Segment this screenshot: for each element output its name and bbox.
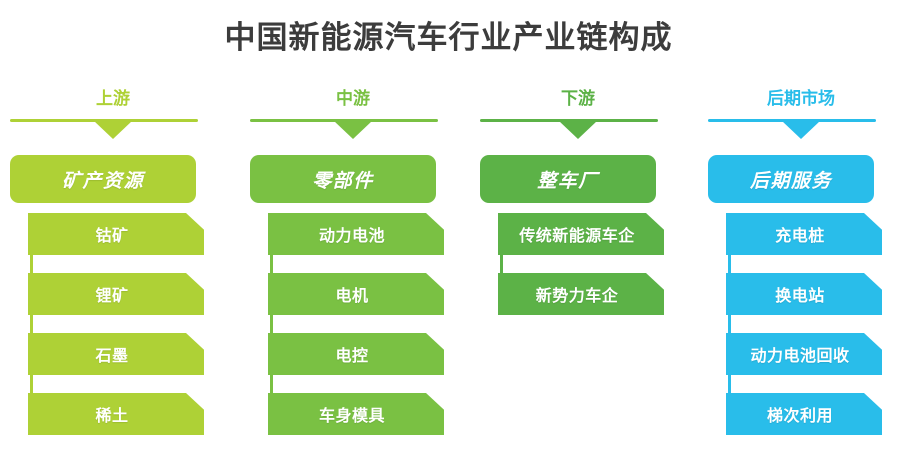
sub-item-list-downstream: 传统新能源车企 新势力车企 [478,213,678,315]
primary-node-midstream[interactable]: 零部件 [250,155,436,203]
list-item-label: 车身模具 [319,402,393,426]
primary-node-downstream[interactable]: 整车厂 [480,155,656,203]
list-item-label: 传统新能源车企 [519,222,643,246]
node-stack-downstream: 整车厂 传统新能源车企 新势力车企 [478,143,678,315]
list-item[interactable]: 充电桩 [726,213,882,255]
sub-item-list-midstream: 动力电池 电机 电控 车身模具 [248,213,458,435]
stage-header-midstream: 中游 [248,88,458,143]
stage-column-midstream: 中游 零部件 动力电池 电机 电控 [248,88,458,475]
list-item-label: 石墨 [95,342,136,366]
primary-node-aftermarket[interactable]: 后期服务 [708,155,874,203]
primary-node-label: 零部件 [312,166,374,193]
stage-header-aftermarket: 后期市场 [706,88,896,143]
primary-node-label: 后期服务 [750,166,832,193]
list-item[interactable]: 换电站 [726,273,882,315]
list-item-label: 电机 [335,282,376,306]
stage-label-midstream: 中游 [248,88,458,110]
list-item-label: 电控 [335,342,376,366]
list-item[interactable]: 钴矿 [28,213,204,255]
list-item-label: 动力电池回收 [750,342,857,366]
stage-label-aftermarket: 后期市场 [706,88,896,110]
primary-node-upstream[interactable]: 矿产资源 [10,155,196,203]
node-stack-aftermarket: 后期服务 充电桩 换电站 动力电池回收 梯次利用 [706,143,896,435]
stage-triangle-icon-downstream [559,121,597,139]
sub-item-list-upstream: 钴矿 锂矿 石墨 稀土 [8,213,218,435]
list-item[interactable]: 动力电池回收 [726,333,882,375]
list-item-label: 新势力车企 [536,282,627,306]
list-item[interactable]: 动力电池 [268,213,444,255]
primary-node-label: 整车厂 [537,166,599,193]
list-item-label: 钴矿 [95,222,136,246]
node-stack-midstream: 零部件 动力电池 电机 电控 车身模具 [248,143,458,435]
stage-label-downstream: 下游 [478,88,678,110]
list-item[interactable]: 车身模具 [268,393,444,435]
list-item-label: 充电桩 [775,222,833,246]
list-item-label: 换电站 [775,282,833,306]
stage-triangle-icon-upstream [94,121,132,139]
stage-columns: 上游 矿产资源 钴矿 锂矿 石墨 [0,88,897,475]
list-item[interactable]: 新势力车企 [498,273,664,315]
stage-column-aftermarket: 后期市场 后期服务 充电桩 换电站 动力电池回收 [706,88,896,475]
list-item[interactable]: 稀土 [28,393,204,435]
list-item[interactable]: 电机 [268,273,444,315]
page-title: 中国新能源汽车行业产业链构成 [0,12,897,57]
stage-label-upstream: 上游 [8,88,218,110]
stage-header-downstream: 下游 [478,88,678,143]
stage-triangle-icon-aftermarket [782,121,820,139]
list-item-label: 梯次利用 [767,402,841,426]
primary-node-label: 矿产资源 [62,166,144,193]
list-item-label: 动力电池 [319,222,393,246]
list-item[interactable]: 传统新能源车企 [498,213,664,255]
list-item-label: 锂矿 [95,282,136,306]
list-item[interactable]: 石墨 [28,333,204,375]
node-stack-upstream: 矿产资源 钴矿 锂矿 石墨 稀土 [8,143,218,435]
sub-item-list-aftermarket: 充电桩 换电站 动力电池回收 梯次利用 [706,213,896,435]
stage-column-upstream: 上游 矿产资源 钴矿 锂矿 石墨 [8,88,218,475]
list-item[interactable]: 锂矿 [28,273,204,315]
stage-header-upstream: 上游 [8,88,218,143]
list-item[interactable]: 梯次利用 [726,393,882,435]
list-item[interactable]: 电控 [268,333,444,375]
industry-chain-infographic: 中国新能源汽车行业产业链构成 上游 矿产资源 钴矿 锂矿 [0,0,897,475]
list-item-label: 稀土 [95,402,136,426]
stage-column-downstream: 下游 整车厂 传统新能源车企 新势力车企 [478,88,678,475]
stage-triangle-icon-midstream [334,121,372,139]
